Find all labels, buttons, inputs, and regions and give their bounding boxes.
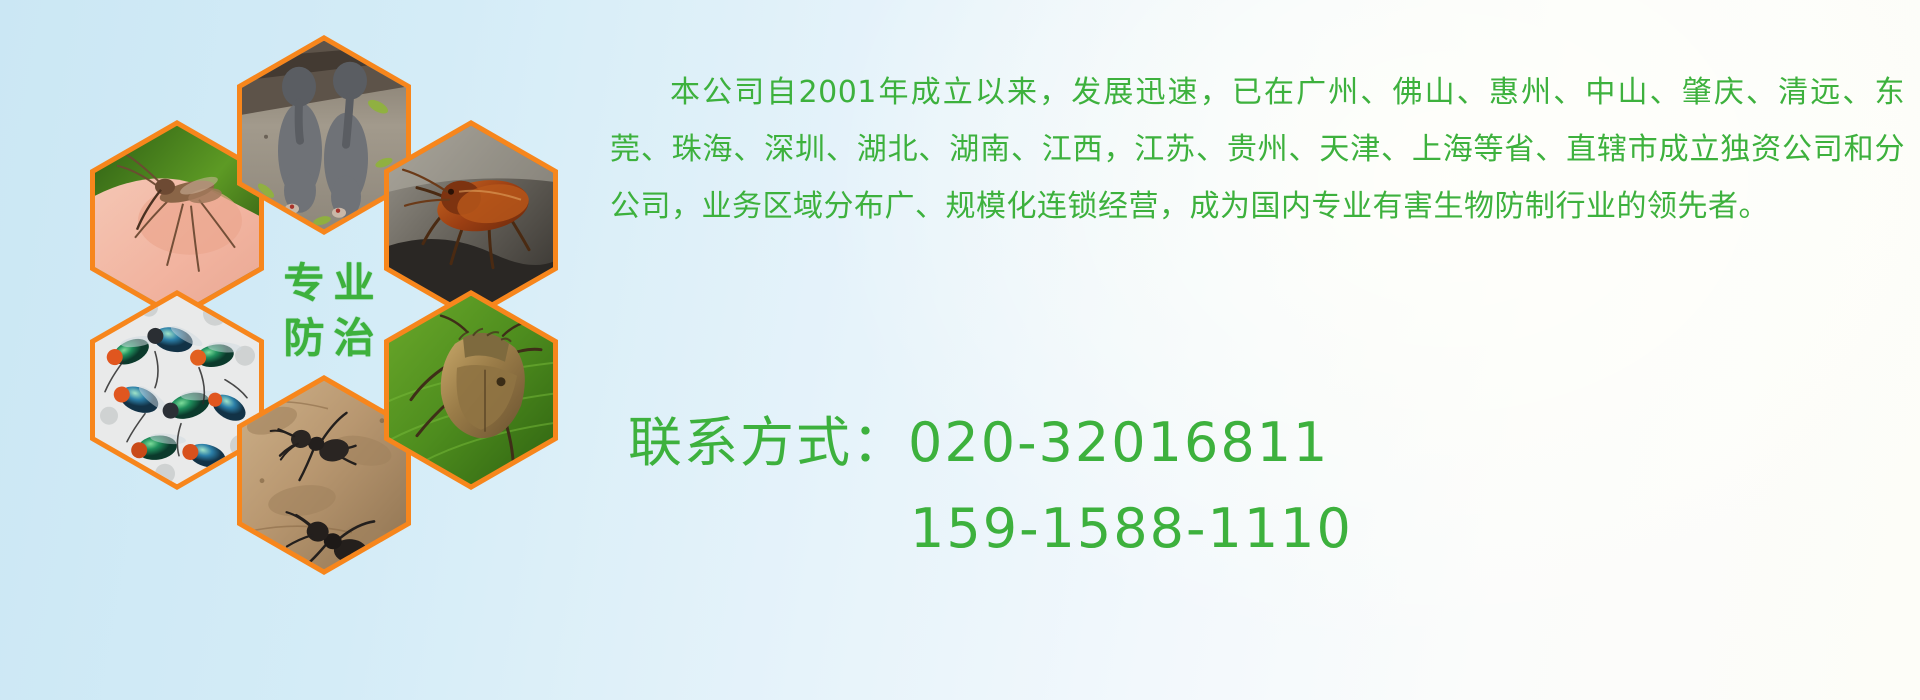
hex-inner-cockroach bbox=[389, 126, 553, 314]
hex-inner-ants bbox=[242, 381, 406, 569]
hex-inner-mosquito bbox=[95, 126, 259, 314]
hex-inner-center: 专业 防治 bbox=[242, 211, 406, 399]
stinkbug-photo bbox=[389, 296, 553, 484]
company-description-paragraph: 本公司自2001年成立以来，发展迅速，已在广州、佛山、惠州、中山、肇庆、清远、东… bbox=[610, 64, 1905, 235]
ants-photo bbox=[242, 381, 406, 569]
contact-block: 联系方式：020-32016811 159-1588-1110 bbox=[620, 400, 1900, 572]
hex-inner-rats bbox=[242, 41, 406, 229]
center-slogan: 专业 防治 bbox=[242, 211, 406, 399]
contact-line-primary: 联系方式：020-32016811 bbox=[620, 400, 1900, 486]
contact-phone-primary[interactable]: 020-32016811 bbox=[908, 411, 1329, 474]
cockroach-photo bbox=[389, 126, 553, 314]
center-slogan-line1: 专业 bbox=[275, 263, 384, 304]
rats-photo bbox=[242, 41, 406, 229]
contact-line-secondary: 159-1588-1110 bbox=[620, 486, 1900, 572]
honeycomb-image-cluster: 专业 防治 bbox=[80, 0, 600, 580]
contact-phone-secondary[interactable]: 159-1588-1110 bbox=[910, 497, 1353, 560]
contact-label: 联系方式： bbox=[628, 411, 908, 474]
flies-photo bbox=[95, 296, 259, 484]
banner-content: 本公司自2001年成立以来，发展迅速，已在广州、佛山、惠州、中山、肇庆、清远、东… bbox=[610, 0, 1910, 700]
hex-inner-flies bbox=[95, 296, 259, 484]
mosquito-photo bbox=[95, 126, 259, 314]
center-slogan-line2: 防治 bbox=[275, 318, 384, 359]
hex-inner-stinkbug bbox=[389, 296, 553, 484]
promo-banner: 专业 防治 本公司自2001年成立以来，发展迅速，已在广州、佛山、惠州、中山、肇… bbox=[0, 0, 1920, 700]
